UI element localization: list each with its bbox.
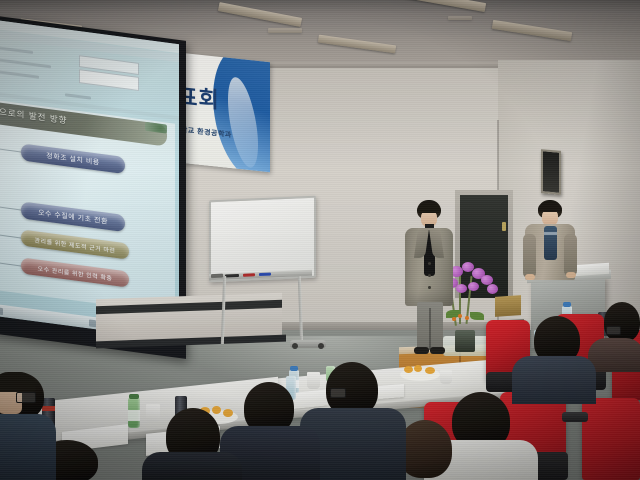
audience-shoulders xyxy=(0,414,56,480)
audience-head xyxy=(604,302,640,342)
eyeglasses xyxy=(330,388,346,398)
seminar-room-photo: 발표회 표회 대구대학교 환경공학과 으로의 발전 방향 정화조 설치 비용 xyxy=(0,0,640,480)
audience-shoulders xyxy=(142,452,242,480)
eyeglasses xyxy=(16,392,36,403)
audience xyxy=(0,0,640,480)
audience-head xyxy=(398,420,452,478)
eyeglasses xyxy=(606,326,621,335)
audience-shoulders xyxy=(512,356,596,404)
audience-shoulders xyxy=(588,338,640,372)
